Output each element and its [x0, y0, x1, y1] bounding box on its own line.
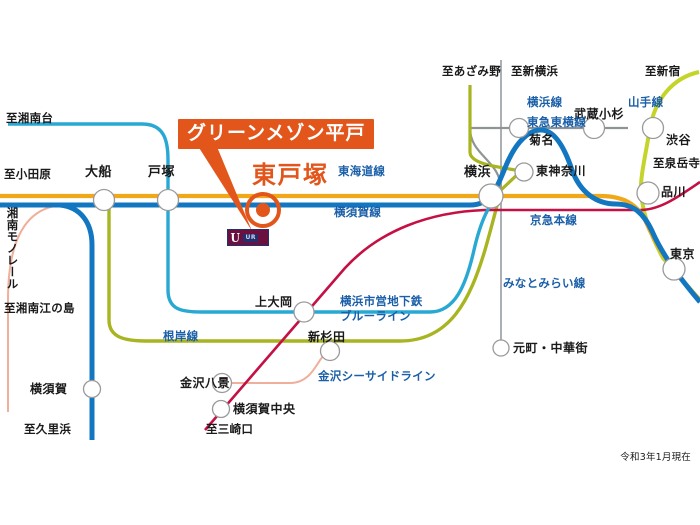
- station-node-shinagawa: [637, 182, 659, 204]
- ur-logo-u-icon: U: [231, 232, 240, 244]
- terminus-shonandai: 至湘南台: [6, 113, 53, 125]
- station-node-tokyo: [663, 258, 685, 280]
- station-label-yokosuka-chuo: 横須賀中央: [233, 403, 296, 415]
- terminus-shinjuku: 至新宿: [645, 66, 680, 78]
- station-label-yokosuka: 横須賀: [30, 383, 68, 395]
- station-label-shin-sugita: 新杉田: [308, 331, 346, 343]
- station-node-kamiooka: [294, 302, 314, 322]
- station-label-yokohama: 横浜: [464, 166, 491, 179]
- station-label-totsuka: 戸塚: [148, 166, 175, 179]
- station-label-tokyo: 東京: [670, 248, 695, 260]
- line-label-minatomirai: みなとみらい線: [503, 278, 586, 290]
- station-label-higashi-kanagawa: 東神奈川: [536, 165, 586, 177]
- line-label-blueline-2: ブルーライン: [340, 311, 411, 323]
- terminus-misakiguchi: 至三崎口: [206, 424, 253, 436]
- station-node-higashi-kanagawa: [515, 163, 533, 181]
- station-node-kikuna: [510, 119, 529, 138]
- station-label-shibuya: 渋谷: [666, 134, 691, 146]
- station-label-ofuna: 大船: [85, 166, 112, 179]
- line-label-yamanote: 山手線: [628, 97, 663, 109]
- line-label-tokaido: 東海道線: [338, 166, 385, 178]
- property-callout[interactable]: グリーンメゾン平戸: [178, 119, 374, 149]
- line-label-negishi: 根岸線: [163, 331, 198, 343]
- station-node-yokosuka-chuo: [213, 401, 230, 418]
- terminus-odawara: 至小田原: [4, 169, 51, 181]
- terminus-shin-yokohama: 至新横浜: [511, 66, 558, 78]
- station-node-shibuya: [643, 118, 664, 139]
- station-label-motomachi: 元町・中華街: [513, 342, 588, 354]
- station-node-totsuka: [158, 190, 179, 211]
- line-label-blueline-1: 横浜市営地下鉄: [340, 296, 423, 308]
- terminus-sengakuji: 至泉岳寺: [653, 158, 700, 170]
- station-node-ofuna: [94, 190, 115, 211]
- station-label-kamiooka: 上大岡: [255, 296, 293, 308]
- ur-logo-wordmark: UR: [243, 234, 258, 242]
- property-location-marker: [245, 192, 281, 228]
- line-label-toyoko: 東急東横線: [527, 117, 586, 129]
- station-node-shin-sugita: [321, 342, 340, 361]
- route-map: 至湘南台 至小田原 至湘南江の島 至久里浜 至三崎口 至あざみ野 至新横浜 至新…: [0, 0, 700, 525]
- nearest-station-label: 東戸塚: [252, 163, 329, 187]
- station-label-kanazawa-hakkei: 金沢八景: [180, 377, 230, 389]
- line-kanazawa-seaside: [222, 352, 330, 383]
- terminus-azamino: 至あざみ野: [442, 66, 501, 78]
- terminus-kurihama: 至久里浜: [24, 424, 71, 436]
- line-label-seaside: 金沢シーサイドライン: [318, 371, 436, 383]
- callout-pointer: [196, 142, 252, 231]
- station-label-kikuna: 菊名: [529, 134, 554, 146]
- line-label-yokohama: 横浜線: [527, 97, 562, 109]
- line-label-yokosuka: 横須賀線: [334, 207, 381, 219]
- station-node-motomachi: [493, 340, 509, 356]
- as-of-date: 令和3年1月現在: [620, 449, 691, 463]
- line-yokosuka-south: [60, 205, 92, 440]
- terminus-shonan-enoshima: 至湘南江の島: [4, 303, 75, 315]
- line-label-shonan-monorail: 湘南モノレール: [6, 207, 18, 290]
- station-label-shinagawa: 品川: [661, 186, 686, 198]
- rail-lines-layer: [0, 0, 700, 525]
- ur-logo: U UR: [227, 229, 269, 246]
- station-node-yokosuka: [84, 381, 101, 398]
- line-label-keikyu: 京急本線: [530, 215, 577, 227]
- station-node-yokohama: [479, 184, 503, 208]
